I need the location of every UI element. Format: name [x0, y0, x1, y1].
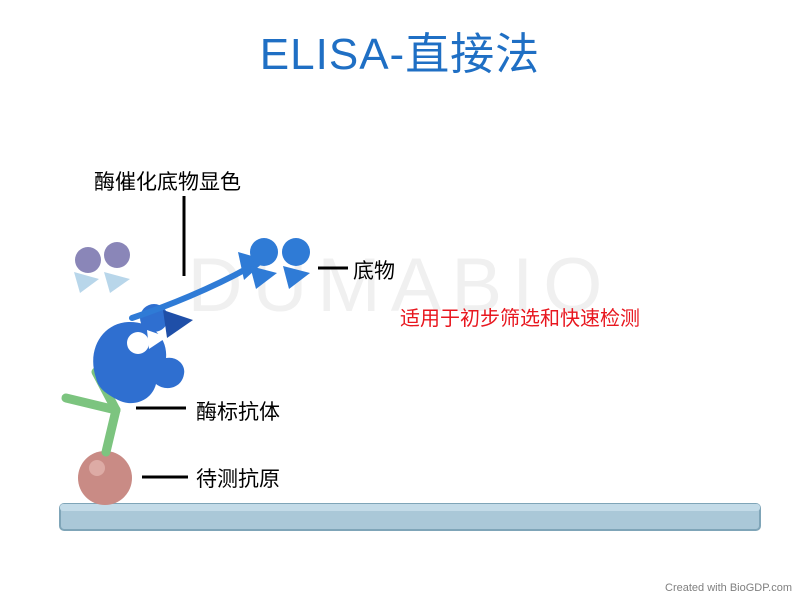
credit-text: Created with BioGDP.com	[665, 582, 792, 594]
substrate-cluster	[250, 238, 310, 289]
elisa-diagram-illustration	[0, 0, 800, 600]
label-substrate: 底物	[353, 255, 395, 285]
label-enzyme-antibody: 酶标抗体	[196, 396, 280, 426]
colored-product-cluster	[74, 242, 130, 293]
slide-canvas: DUMABIO ELISA-直接法	[0, 0, 800, 600]
microplate-surface	[60, 504, 760, 530]
reaction-arrow	[132, 252, 266, 318]
label-enzyme-substrate: 酶催化底物显色	[94, 166, 241, 196]
label-antigen: 待测抗原	[196, 463, 280, 493]
application-note: 适用于初步筛选和快速检测	[400, 302, 640, 331]
enzyme-blob	[93, 304, 193, 403]
antigen-sphere	[78, 451, 132, 505]
